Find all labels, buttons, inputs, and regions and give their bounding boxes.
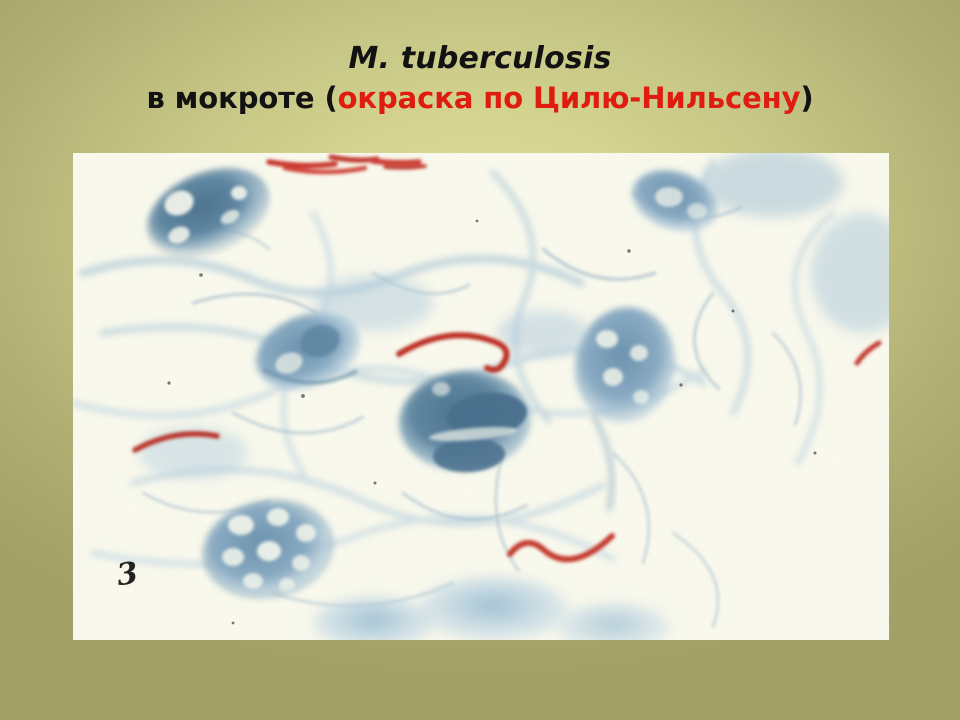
slide-title-block: M. tuberculosis в мокроте (окраска по Ци… (0, 42, 960, 115)
slide-canvas: M. tuberculosis в мокроте (окраска по Ци… (0, 0, 960, 720)
bacillus-top-far-right (385, 166, 425, 168)
micrograph-image: 3 (73, 153, 889, 640)
page-title-species: M. tuberculosis (0, 42, 960, 77)
subtitle-prefix: в мокроте ( (146, 81, 337, 115)
subtitle-suffix: ) (800, 81, 813, 115)
subtitle-stain-method: окраска по Цилю-Нильсену (338, 81, 801, 115)
micrograph-canvas (73, 153, 889, 640)
bacillus-top-right (373, 161, 419, 163)
page-title-subtitle: в мокроте (окраска по Цилю-Нильсену) (0, 82, 960, 116)
bacillus-top-cluster-c (331, 157, 377, 160)
